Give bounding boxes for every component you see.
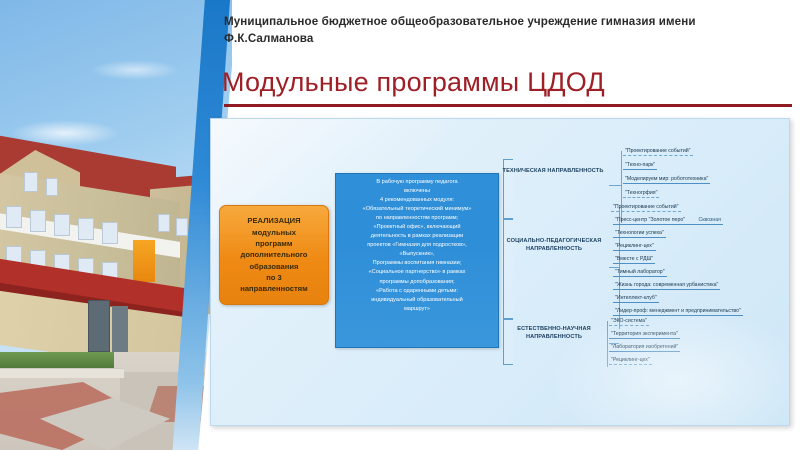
desc-line: индивидуальный образовательный [341,296,493,305]
root-line-7: направленностям [240,283,307,294]
page-title: Модульные программы ЦДОД [222,68,605,98]
window [46,178,58,196]
bracket-social [503,219,513,319]
building-entrance-door [88,300,110,352]
leaf-item[interactable]: "Тимный лаборатор" [613,269,667,277]
desc-line: включены [341,187,493,196]
diagram-canvas: РЕАЛИЗАЦИЯ модульных программ дополнител… [210,118,790,426]
window [54,214,70,236]
direction-label-technical: ТЕХНИЧЕСКАЯ НАПРАВЛЕННОСТЬ [497,167,609,175]
leaf-item[interactable]: "Лаборатория изобретений" [609,344,680,352]
root-line-4: дополнительного [240,249,307,260]
leaf-item[interactable]: "Интеллект-клуб" [613,295,659,303]
organization-subtitle: Муниципальное бюджетное общеобразователь… [224,14,769,48]
root-line-2: модульных [240,227,307,238]
leaf-note: Сквозная [699,217,721,223]
direction-label-social: СОЦИАЛЬНО-ПЕДАГОГИЧЕСКАЯ НАПРАВЛЕННОСТЬ [493,237,615,253]
building-entrance-door [112,306,128,352]
desc-line: В рабочую программу педагога [341,178,493,187]
window [78,218,94,240]
window [102,222,118,244]
connector-science-spine [607,321,608,367]
root-line-3: программ [240,238,307,249]
window [176,218,188,236]
desc-line: «Работа с одаренными детьми: [341,287,493,296]
root-node-realization: РЕАЛИЗАЦИЯ модульных программ дополнител… [219,205,329,305]
slide-root: Муниципальное бюджетное общеобразователь… [0,0,800,450]
leaf-item[interactable]: "Проектирование событий" [611,204,681,212]
connector-social [609,267,619,268]
leaf-item[interactable]: "Моделируем мир: робототехника" [623,176,710,184]
leaf-item[interactable]: "Рециклинг-цех" [609,357,652,365]
leaf-text: "Пресс-центр "Золотое перо" [615,217,685,223]
desc-line: программы допобразования; [341,278,493,287]
desc-line: деятельность в рамках реализации [341,232,493,241]
leaf-item[interactable]: "Пресс-центр "Золотое перо" Сквозная [613,217,723,225]
desc-line: маршрут» [341,305,493,314]
leaf-item[interactable]: "Проектирование событий" [623,148,693,156]
leaf-item[interactable]: "Техно-парк" [623,162,657,170]
desc-line: «Обязательный теоретический минимум» [341,205,493,214]
window [158,214,170,232]
desc-line: проектов «Гимназия для подростков», [341,241,493,250]
window [24,172,38,192]
root-line-6: по 3 [240,272,307,283]
leaf-item[interactable]: "Рециклинг-цех" [613,243,656,251]
root-line-1: РЕАЛИЗАЦИЯ [240,215,307,226]
connector-science [609,343,619,344]
window [6,206,22,228]
root-line-5: образования [240,261,307,272]
connector-technical-spine [621,151,622,223]
building-signboard [133,240,155,282]
leaf-item[interactable]: "Техногрфия" [623,190,659,198]
leaf-item[interactable]: "Территория эксперимента" [609,331,680,339]
desc-line: 4 рекомендованных модуля: [341,196,493,205]
program-description-box: В рабочую программу педагога включены 4 … [335,173,499,348]
desc-line: «Проектный офис», включающий [341,223,493,232]
window [30,210,46,232]
desc-line: «Социальное партнерство» в рамках [341,268,493,277]
desc-line: по направленностям программ; [341,214,493,223]
leaf-item[interactable]: "ЭКО-система" [609,318,649,326]
leaf-item[interactable]: "Технологии успеха" [613,230,666,238]
leaf-item[interactable]: "Лидер-проф: менеджмент и предпринимател… [613,308,743,316]
connector-technical [609,185,621,186]
desc-line: Программы воспитания гимназии; [341,259,493,268]
desc-line: «Выпускник», [341,250,493,259]
leaf-item[interactable]: "Жизнь города: современная урбанистика" [613,282,720,290]
direction-label-science: ЕСТЕСТВЕННО-НАУЧНАЯ НАПРАВЛЕННОСТЬ [493,325,615,341]
title-underline-rule [224,104,792,107]
connector-social-spine [619,207,620,329]
leaf-item[interactable]: "Вместе с РДШ" [613,256,655,264]
curb-stone [0,368,124,378]
cloud-icon [90,60,180,80]
